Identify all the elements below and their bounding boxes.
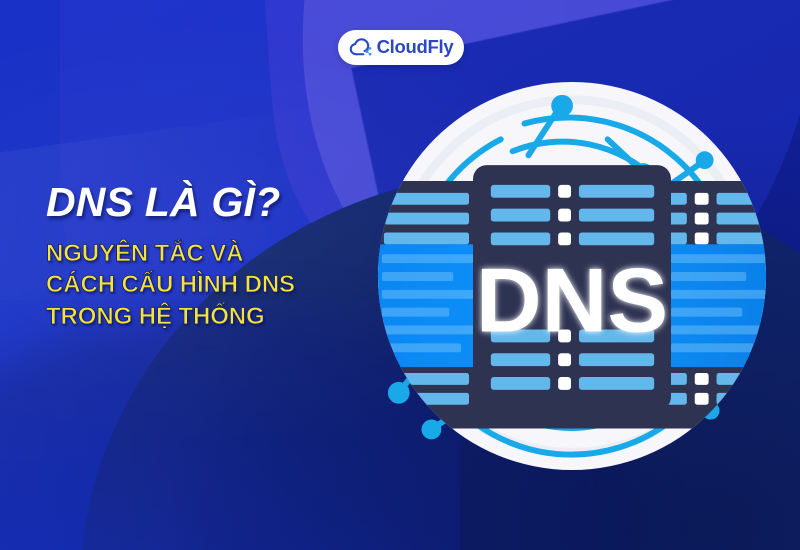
subtitle-line-2: CÁCH CẤU HÌNH DNS xyxy=(46,269,356,301)
page-title: DNS LÀ GÌ? xyxy=(46,182,356,224)
subtitle-line-1: NGUYÊN TẮC VÀ xyxy=(46,238,356,270)
artwork-dns-label: DNS xyxy=(476,251,668,352)
cloud-icon xyxy=(349,37,372,58)
dns-server-illustration: DNS xyxy=(374,78,770,474)
brand-logo[interactable]: CloudFly xyxy=(338,30,464,65)
dns-banner: CloudFly DNS LÀ GÌ? NGUYÊN TẮC VÀ CÁCH C… xyxy=(0,0,800,550)
brand-logo-text: CloudFly xyxy=(377,38,454,57)
dns-server-icon: DNS xyxy=(374,78,770,474)
subtitle-block: NGUYÊN TẮC VÀ CÁCH CẤU HÌNH DNS TRONG HỆ… xyxy=(46,238,356,333)
headline-block: DNS LÀ GÌ? NGUYÊN TẮC VÀ CÁCH CẤU HÌNH D… xyxy=(46,182,356,333)
subtitle-line-3: TRONG HỆ THỐNG xyxy=(46,301,356,333)
